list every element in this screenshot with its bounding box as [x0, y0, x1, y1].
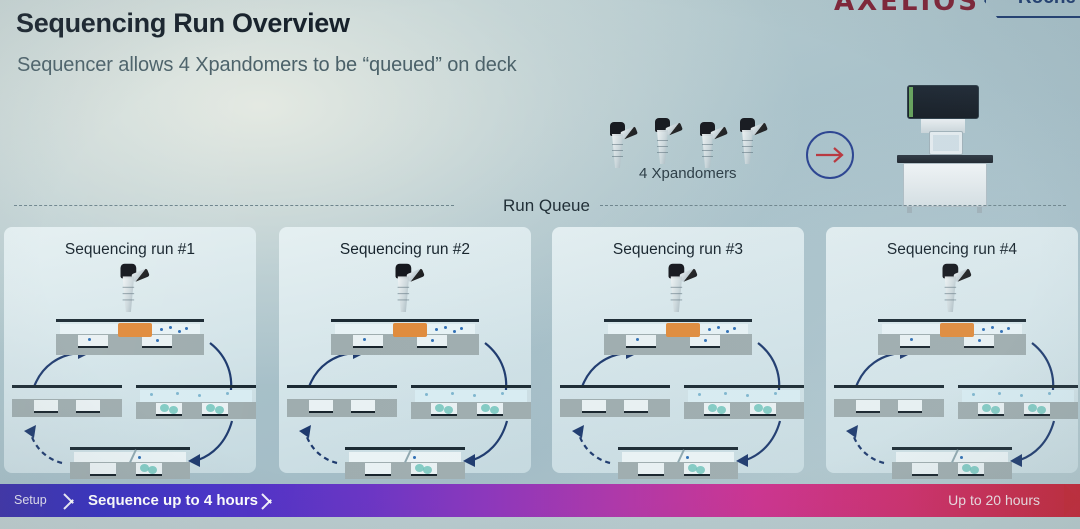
- flowcell-stage-fill: [684, 385, 804, 419]
- cycle-arrows: [552, 261, 804, 473]
- instrument-monitor: [907, 85, 979, 119]
- timeline-sequence-label: Sequence up to 4 hours: [88, 484, 258, 517]
- flowcell-stage-load: [878, 319, 1026, 355]
- slide-canvas: Sequencing Run Overview Sequencer allows…: [0, 0, 1080, 529]
- flowcell-stage-load: [604, 319, 752, 355]
- timeline-setup-label: Setup: [14, 484, 47, 517]
- flowcell-stage-thread: [345, 447, 465, 479]
- sequencing-run-panel[interactable]: Sequencing run #1: [4, 227, 256, 473]
- sequencing-run-panel[interactable]: Sequencing run #3: [552, 227, 804, 473]
- instrument-laptop: [929, 131, 963, 155]
- axelios-logo: AXELIOS: [834, 0, 980, 17]
- slide-bottom-strip: [0, 517, 1080, 529]
- cycle-arrows: [279, 261, 531, 473]
- cycle-arrows: [4, 261, 256, 473]
- chevron-right-icon: [260, 484, 276, 517]
- flowcell-stage-empty: [287, 385, 397, 419]
- timeline-total-label: Up to 20 hours: [948, 484, 1040, 517]
- page-subtitle: Sequencer allows 4 Xpandomers to be “que…: [17, 54, 517, 77]
- sequencer-instrument-icon: [895, 85, 995, 185]
- run-panel-title: Sequencing run #4: [826, 241, 1078, 259]
- xpandomer-tube-icon: [650, 118, 680, 170]
- cycle-arrows: [826, 261, 1078, 473]
- xpandomer-tube-icon: [605, 122, 635, 174]
- xpandomer-count-label: 4 Xpandomers: [639, 165, 737, 182]
- run-queue-divider-right: [600, 205, 1066, 206]
- sequencing-run-panel[interactable]: Sequencing run #2: [279, 227, 531, 473]
- run-queue-divider-left: [14, 205, 454, 206]
- flowcell-stage-thread: [618, 447, 738, 479]
- sequencing-cycle-diagram: [279, 261, 531, 473]
- chevron-right-icon: [62, 484, 78, 517]
- page-title: Sequencing Run Overview: [16, 8, 350, 39]
- run-panel-title: Sequencing run #2: [279, 241, 531, 259]
- flowcell-stage-thread: [70, 447, 190, 479]
- sequencing-run-panel[interactable]: Sequencing run #4: [826, 227, 1078, 473]
- xpandomer-tube-icon: [735, 118, 765, 170]
- flowcell-stage-empty: [834, 385, 944, 419]
- flowcell-stage-empty: [560, 385, 670, 419]
- run-queue-label: Run Queue: [503, 196, 590, 216]
- sequencing-cycle-diagram: [4, 261, 256, 473]
- arrow-right-icon: [806, 131, 854, 179]
- flowcell-stage-load: [56, 319, 204, 355]
- flowcell-stage-fill: [136, 385, 256, 419]
- sequencing-cycle-diagram: [552, 261, 804, 473]
- sequencing-cycle-diagram: [826, 261, 1078, 473]
- flowcell-stage-fill: [411, 385, 531, 419]
- instrument-cart: [903, 163, 987, 207]
- flowcell-stage-load: [331, 319, 479, 355]
- run-panel-title: Sequencing run #1: [4, 241, 256, 259]
- instrument-deck: [897, 155, 993, 163]
- timeline-arrow-tip: [1064, 484, 1080, 516]
- roche-logo-text: Roche: [1018, 0, 1076, 9]
- run-panel-title: Sequencing run #3: [552, 241, 804, 259]
- flowcell-stage-empty: [12, 385, 122, 419]
- flowcell-stage-thread: [892, 447, 1012, 479]
- flowcell-stage-fill: [958, 385, 1078, 419]
